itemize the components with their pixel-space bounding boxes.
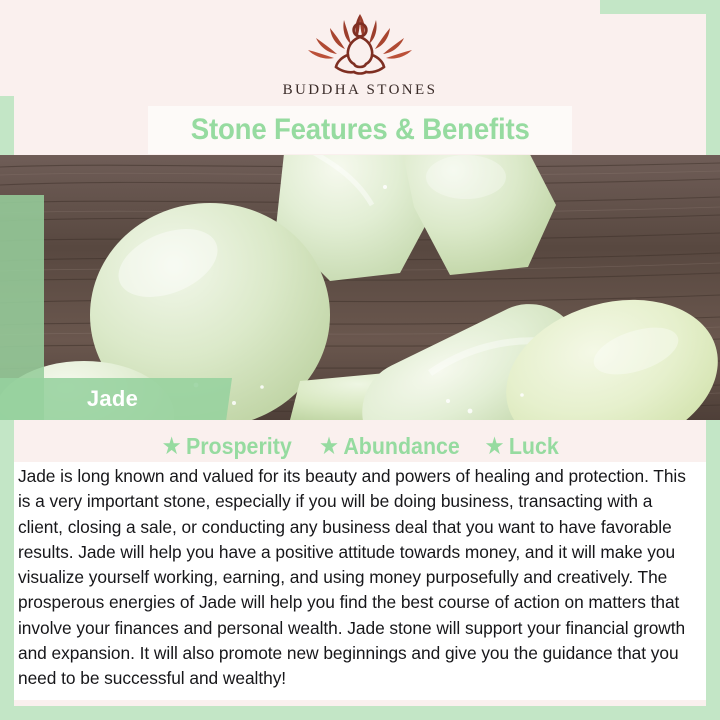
benefit-item-prosperity: ★ Prosperity bbox=[163, 433, 292, 460]
infographic-page: BUDDHA STONES Stone Features & Benefits bbox=[0, 0, 720, 720]
benefit-label: Abundance bbox=[343, 433, 459, 460]
benefits-row: ★ Prosperity ★ Abundance ★ Luck bbox=[14, 430, 706, 462]
description-panel: Jade is long known and valued for its be… bbox=[14, 462, 706, 706]
benefit-label: Luck bbox=[509, 433, 559, 460]
benefit-item-abundance: ★ Abundance bbox=[320, 433, 460, 460]
page-title: Stone Features & Benefits bbox=[191, 113, 530, 147]
star-icon: ★ bbox=[320, 436, 338, 457]
star-icon: ★ bbox=[163, 436, 181, 457]
star-icon: ★ bbox=[486, 436, 504, 457]
benefit-item-luck: ★ Luck bbox=[486, 433, 559, 460]
benefit-label: Prosperity bbox=[186, 433, 292, 460]
frame-bottom-edge bbox=[0, 706, 720, 720]
description-text: Jade is long known and valued for its be… bbox=[18, 464, 692, 692]
brand-logo: BUDDHA STONES bbox=[0, 8, 720, 99]
title-banner: Stone Features & Benefits bbox=[148, 106, 572, 154]
brand-name: BUDDHA STONES bbox=[283, 82, 438, 99]
description-bottom-spacer bbox=[14, 700, 706, 706]
lotus-meditation-figure-icon bbox=[294, 8, 426, 80]
stone-caption-label: Jade bbox=[0, 378, 225, 420]
